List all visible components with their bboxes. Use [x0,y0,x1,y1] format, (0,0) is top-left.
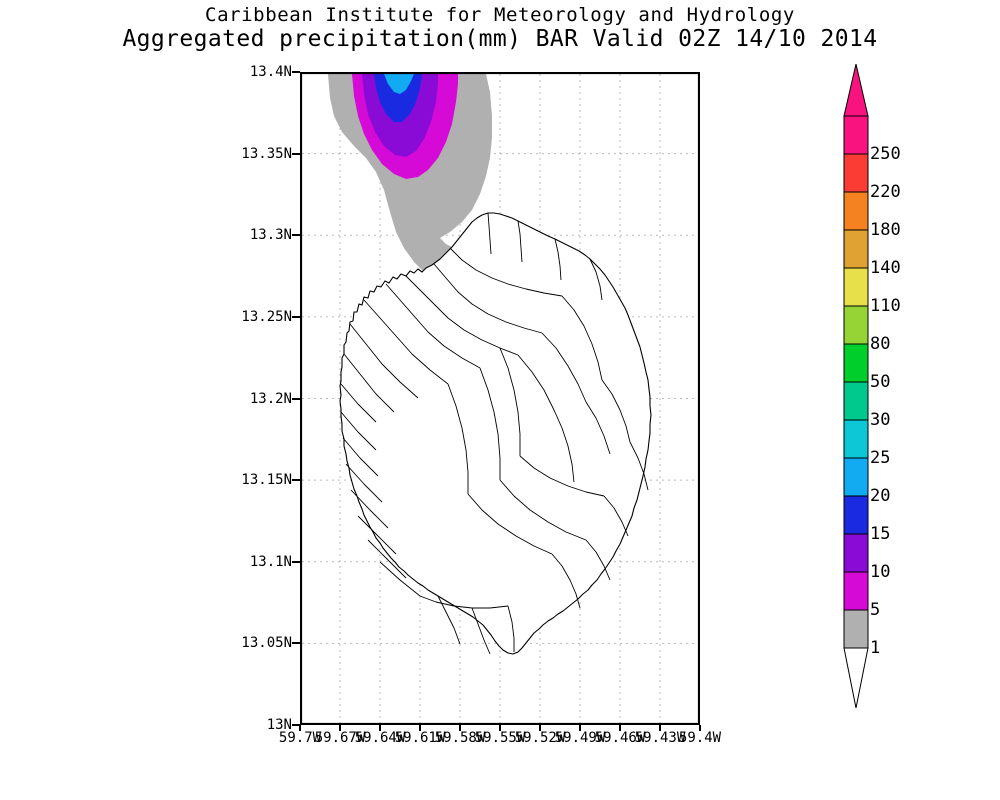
colorbar-over-arrow [844,64,868,116]
colorbar-band-8 [844,420,868,458]
y-axis-tick-mark [292,316,300,318]
colorbar-tick-5: 5 [870,600,880,620]
y-axis-tick-13-35N: 13.35N [241,146,292,162]
y-axis-tick-13-4N: 13.4N [250,64,292,80]
colorbar-band-4 [844,268,868,306]
colorbar-band-7 [844,382,868,420]
colorbar-tick-20: 20 [870,486,890,506]
colorbar-tick-30: 30 [870,410,890,430]
x-axis-tick-59-43W: 59.43W [635,730,686,746]
colorbar-bands [844,64,868,708]
map-plot-area [300,72,700,725]
colorbar-band-13 [844,610,868,648]
x-axis-tick-mark [659,725,661,731]
colorbar-tick-10: 10 [870,562,890,582]
colorbar-tick-25: 25 [870,448,890,468]
colorbar-tick-50: 50 [870,372,890,392]
colorbar-tick-110: 110 [870,296,901,316]
x-axis-tick-mark [379,725,381,731]
colorbar-tick-180: 180 [870,220,901,240]
y-axis-tick-mark [292,234,300,236]
x-axis-tick-mark [419,725,421,731]
page-title: Aggregated precipitation(mm) BAR Valid 0… [0,26,1000,52]
y-axis-tick-mark [292,642,300,644]
colorbar-band-9 [844,458,868,496]
colorbar-band-10 [844,496,868,534]
colorbar-under-arrow [844,648,868,708]
colorbar-tick-140: 140 [870,258,901,278]
y-axis-tick-13-05N: 13.05N [241,635,292,651]
y-axis-tick-mark [292,71,300,73]
x-axis-tick-mark [699,725,701,731]
colorbar-band-5 [844,306,868,344]
x-axis-tick-mark [339,725,341,731]
colorbar-tick-250: 250 [870,144,901,164]
x-axis-tick-labels: 59.7W59.67W59.64W59.61W59.58W59.55W59.52… [0,730,1000,752]
colorbar-band-3 [844,230,868,268]
figure-canvas: Caribbean Institute for Meteorology and … [0,0,1000,800]
figure-title-block: Caribbean Institute for Meteorology and … [0,4,1000,52]
colorbar-tick-80: 80 [870,334,890,354]
colorbar-band-1 [844,154,868,192]
colorbar-tick-220: 220 [870,182,901,202]
x-axis-tick-59-4W: 59.4W [679,730,721,746]
x-axis-tick-mark [579,725,581,731]
colorbar-legend: 2502201801401108050302520151051 [838,64,968,724]
x-axis-tick-mark [539,725,541,731]
y-axis-tick-mark [292,479,300,481]
y-axis-tick-13-2N: 13.2N [250,391,292,407]
x-axis-tick-mark [619,725,621,731]
colorbar-band-11 [844,534,868,572]
x-axis-tick-mark [499,725,501,731]
y-axis-tick-mark [292,153,300,155]
x-axis-tick-mark [299,725,301,731]
y-axis-tick-mark [292,561,300,563]
institute-title: Caribbean Institute for Meteorology and … [0,4,1000,26]
colorbar-band-6 [844,344,868,382]
x-axis-tick-mark [459,725,461,731]
colorbar-tick-15: 15 [870,524,890,544]
y-axis-tick-13-25N: 13.25N [241,309,292,325]
colorbar-band-0 [844,116,868,154]
barbados-island-outline [340,213,651,654]
y-axis-tick-13-3N: 13.3N [250,227,292,243]
y-axis-tick-13-1N: 13.1N [250,554,292,570]
y-axis-tick-13-15N: 13.15N [241,472,292,488]
colorbar-band-12 [844,572,868,610]
colorbar-tick-1: 1 [870,638,880,658]
colorbar-band-2 [844,192,868,230]
y-axis-tick-mark [292,398,300,400]
y-axis-tick-labels: 13.4N13.35N13.3N13.25N13.2N13.15N13.1N13… [170,72,292,725]
